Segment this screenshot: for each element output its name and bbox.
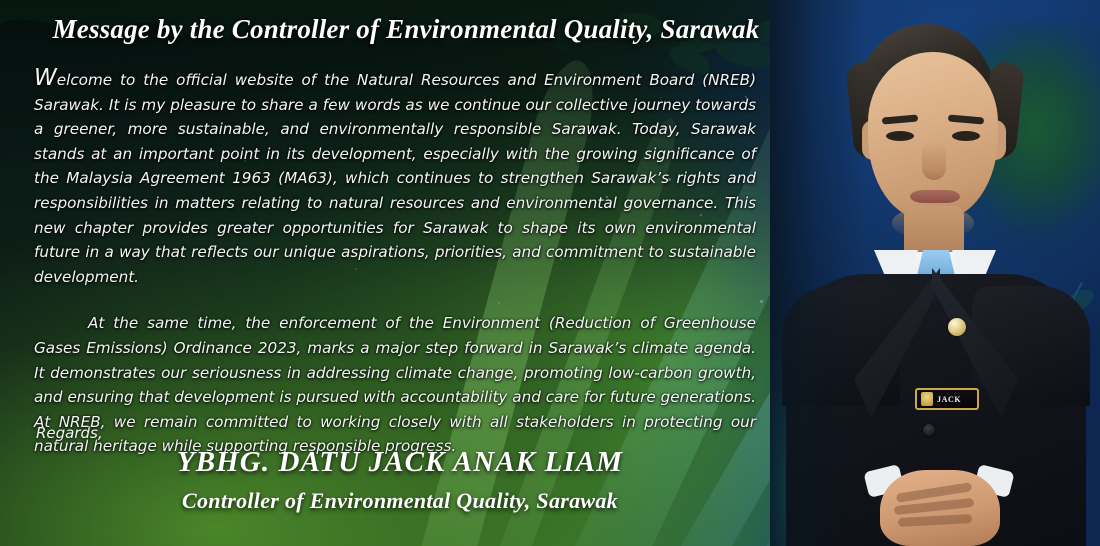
name-badge-text: JACK bbox=[937, 395, 961, 404]
person-figure: JACK bbox=[770, 0, 1100, 546]
jacket-button bbox=[923, 424, 935, 436]
portrait-photo: JACK bbox=[770, 0, 1100, 546]
lapel-pin-icon bbox=[948, 318, 966, 336]
eye-right bbox=[952, 131, 980, 141]
clasped-hands bbox=[880, 470, 1000, 546]
mouth bbox=[910, 190, 960, 203]
paragraph-2: At the same time, the enforcement of the… bbox=[34, 311, 756, 459]
message-content: Message by the Controller of Environment… bbox=[0, 0, 790, 546]
crest-icon bbox=[921, 392, 933, 406]
paragraph-1: Welcome to the official website of the N… bbox=[34, 68, 756, 289]
signature-name: YBHG. DATU JACK ANAK LIAM bbox=[0, 446, 790, 479]
eye-left bbox=[886, 131, 914, 141]
paragraph-1-text: elcome to the official website of the Na… bbox=[34, 71, 756, 286]
dropcap-letter: W bbox=[34, 65, 57, 91]
signature-title: Controller of Environmental Quality, Sar… bbox=[0, 488, 790, 514]
page-title: Message by the Controller of Environment… bbox=[0, 14, 790, 45]
controller-message-banner: JACK Message by the Controller of Enviro… bbox=[0, 0, 1100, 546]
name-badge: JACK bbox=[915, 388, 979, 410]
nose bbox=[922, 142, 946, 180]
closing-salutation: Regards, bbox=[36, 424, 103, 442]
message-body: Welcome to the official website of the N… bbox=[34, 68, 756, 481]
